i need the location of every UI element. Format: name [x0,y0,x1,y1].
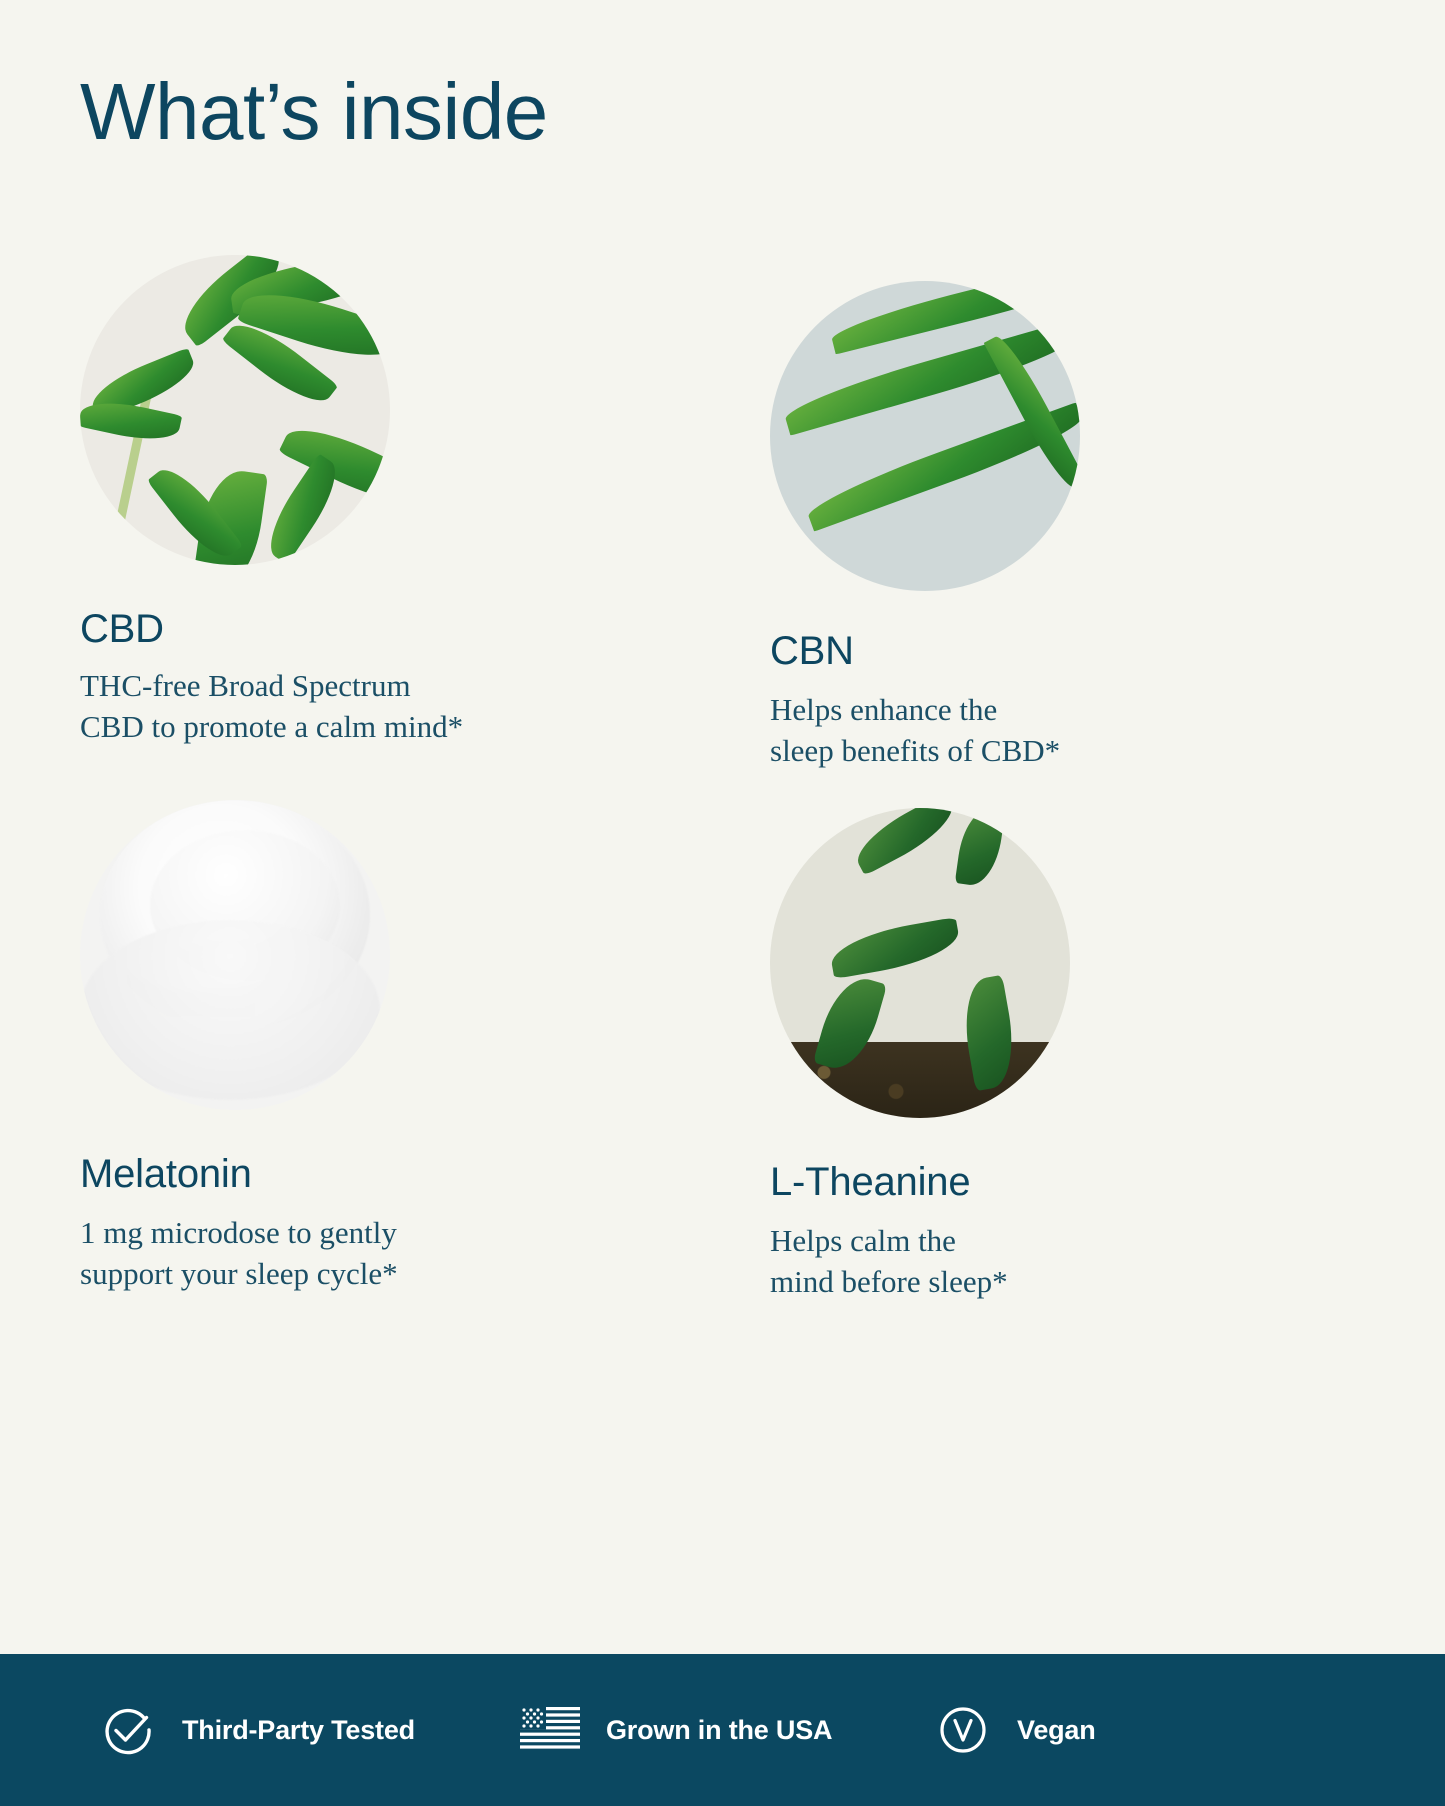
badge-vegan: Vegan [935,1702,1096,1758]
ingredients-grid: CBD THC-free Broad Spectrum CBD to promo… [0,255,1445,1303]
ingredients-row-1: CBD THC-free Broad Spectrum CBD to promo… [0,255,1445,772]
tea-leaf-shape [828,917,963,979]
whats-inside-page: What’s inside [0,0,1445,1806]
badge-label: Vegan [1017,1715,1096,1746]
vegan-v-circle-icon [935,1702,991,1758]
ingredient-name: CBN [770,629,1380,674]
badge-third-party-tested: Third-Party Tested [100,1702,415,1758]
powder-mound [80,920,380,1100]
ingredients-content: What’s inside [0,0,1445,1806]
tea-leaf-shape [955,808,1005,888]
leaf-shape [257,453,348,564]
trust-badge-bar: Third-Party Tested [0,1654,1445,1806]
badge-label: Grown in the USA [606,1715,832,1746]
ingredient-name: CBD [80,607,690,652]
ingredient-description: THC-free Broad Spectrum CBD to promote a… [80,666,690,748]
hemp-leaves-photo [80,255,390,565]
ingredients-row-2: Melatonin 1 mg microdose to gently suppo… [0,800,1445,1303]
ingredient-name: Melatonin [80,1152,690,1197]
hemp-leaf-closeup-photo [770,281,1080,591]
ingredient-name: L-Theanine [770,1160,1380,1205]
usa-flag-icon [520,1707,580,1753]
check-circle-icon [100,1702,156,1758]
tea-leaves-soil-photo [770,808,1070,1118]
ingredient-card-l-theanine: L-Theanine Helps calm the mind before sl… [690,800,1380,1303]
ingredient-card-melatonin: Melatonin 1 mg microdose to gently suppo… [0,800,690,1303]
page-title: What’s inside [80,72,548,152]
ingredient-description: Helps calm the mind before sleep* [770,1221,1380,1303]
ingredient-description: Helps enhance the sleep benefits of CBD* [770,690,1380,772]
tea-leaf-shape [848,808,962,876]
badge-label: Third-Party Tested [182,1715,415,1746]
ingredient-description: 1 mg microdose to gently support your sl… [80,1213,690,1295]
ingredient-card-cbn: CBN Helps enhance the sleep benefits of … [690,255,1380,772]
ingredient-card-cbd: CBD THC-free Broad Spectrum CBD to promo… [0,255,690,772]
white-powder-photo [80,800,390,1110]
badge-grown-in-usa: Grown in the USA [520,1707,832,1753]
